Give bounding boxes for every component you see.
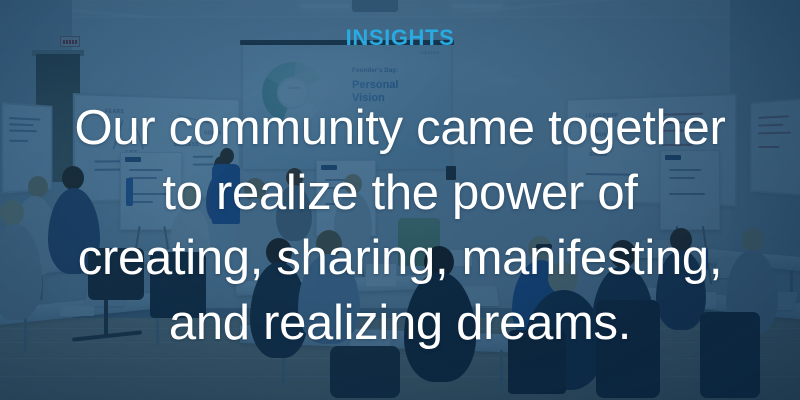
headline-line-1: Our community came together xyxy=(30,96,770,161)
insights-kicker: INSIGHTS xyxy=(0,27,800,49)
headline-quote: Our community came together to realize t… xyxy=(30,96,770,356)
headline-line-2: to realize the power of xyxy=(30,161,770,226)
headline-line-3: creating, sharing, manifesting, xyxy=(30,226,770,291)
insights-quote-banner: FEARS LIFE SUCCESS GOALS LEADERSHIP TRUS… xyxy=(0,0,800,400)
headline-line-4: and realizing dreams. xyxy=(30,291,770,356)
